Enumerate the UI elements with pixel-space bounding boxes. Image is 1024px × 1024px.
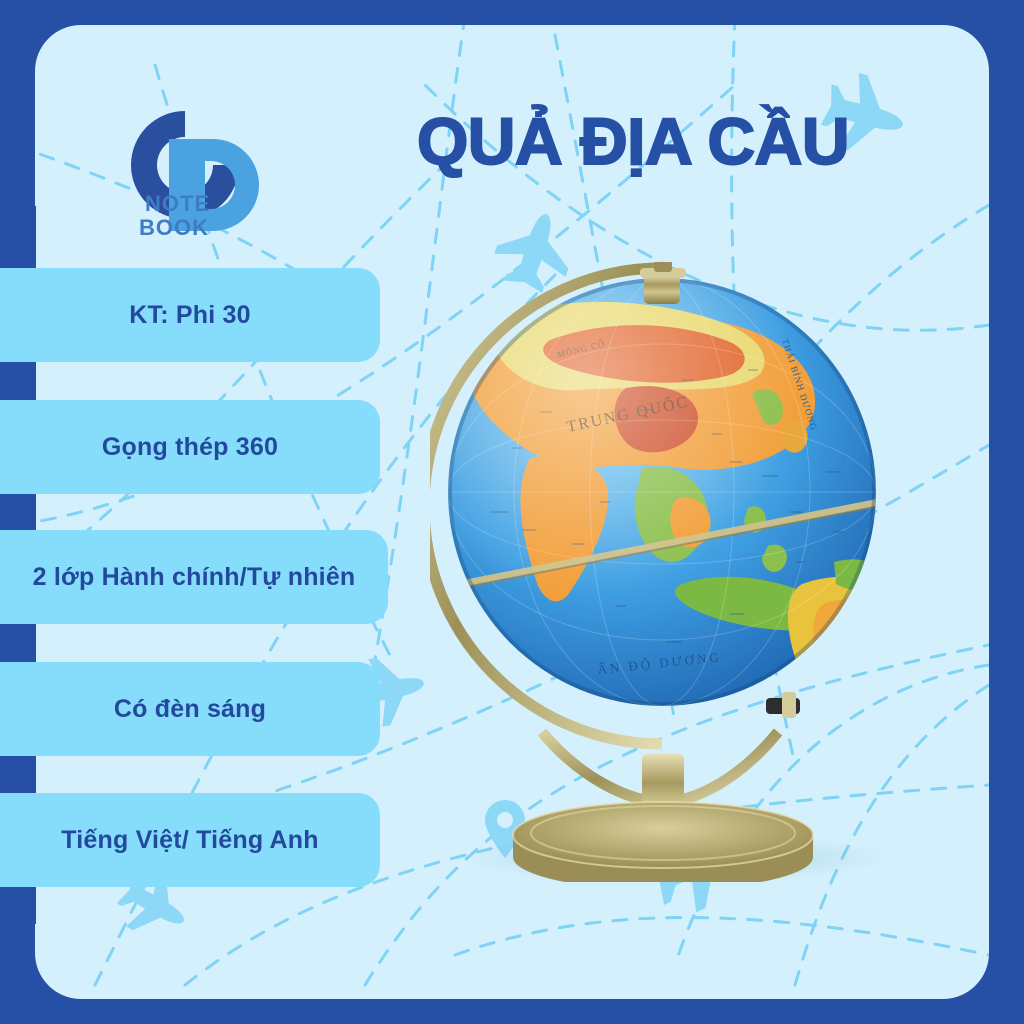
feature-label: 2 lớp Hành chính/Tự nhiên bbox=[33, 563, 356, 592]
globe-top-pin bbox=[640, 262, 686, 304]
feature-pill: Có đèn sáng bbox=[0, 662, 380, 756]
feature-label: KT: Phi 30 bbox=[129, 301, 250, 330]
feature-pill: Tiếng Việt/ Tiếng Anh bbox=[0, 793, 380, 887]
globe-sphere: TRUNG QUỐC ẤN ĐỘ DƯƠNG MÔNG CỔ THÁI BÌNH… bbox=[430, 278, 930, 713]
feature-label: Tiếng Việt/ Tiếng Anh bbox=[61, 826, 318, 855]
feature-label: Gọng thép 360 bbox=[102, 433, 278, 462]
logo-note-text: NOTE bbox=[145, 191, 210, 216]
logo-book-text: BOOK bbox=[139, 215, 209, 240]
feature-pill: KT: Phi 30 bbox=[0, 268, 380, 362]
accent-tab bbox=[0, 206, 36, 268]
page-title: QUẢ ĐỊA CẦU bbox=[398, 95, 868, 187]
globe-product-image: TRUNG QUỐC ẤN ĐỘ DƯƠNG MÔNG CỔ THÁI BÌNH… bbox=[430, 262, 930, 882]
feature-pill: 2 lớp Hành chính/Tự nhiên bbox=[0, 530, 388, 624]
feature-label: Có đèn sáng bbox=[114, 695, 266, 724]
brand-logo: NOTE BOOK bbox=[123, 103, 273, 253]
globe-bottom-clip bbox=[766, 692, 800, 718]
poster-canvas: NOTE BOOK QUẢ ĐỊA CẦU KT: Phi 30 Gọng th… bbox=[0, 0, 1024, 1024]
feature-pill: Gọng thép 360 bbox=[0, 400, 380, 494]
